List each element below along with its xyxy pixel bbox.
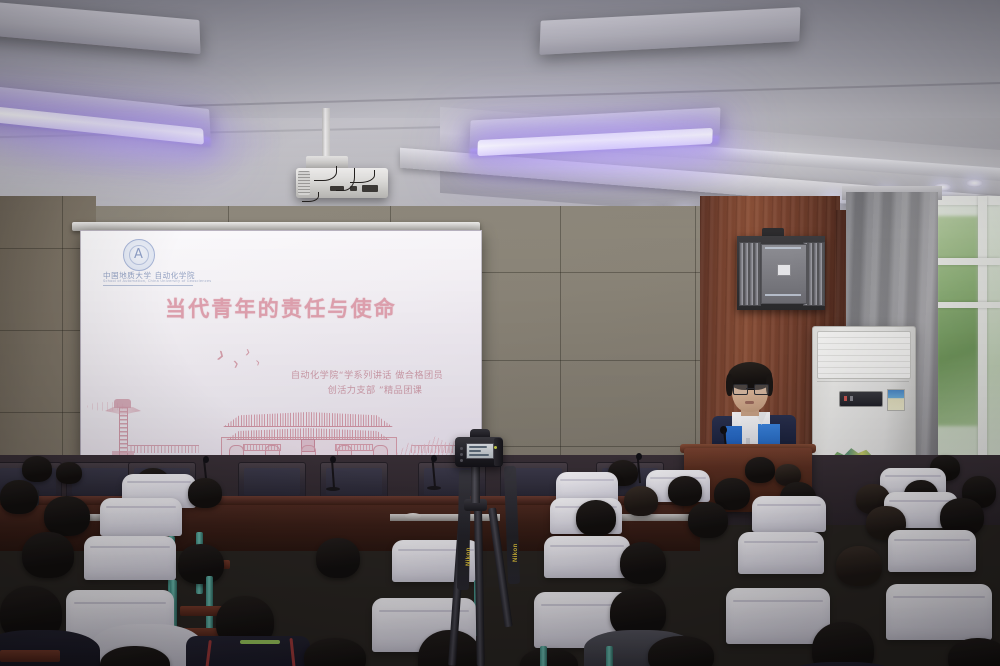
audience-head-c1: [44, 496, 90, 536]
audience-head-e9: [948, 638, 1000, 666]
speaker-strip-top: [765, 247, 801, 249]
audience-head-e6: [648, 636, 714, 666]
chair-cover-d1: [84, 536, 176, 580]
audience-head-e7: [304, 638, 366, 666]
speaker-wing-left: [739, 242, 761, 306]
slide-subtitle-line-1: 自动化学院“学系列讲话 做合格团员: [291, 370, 443, 381]
logo-divider: [103, 285, 193, 286]
university-logo: A 中国地质大学 自动化学院 School of Automation, Chi…: [103, 239, 195, 289]
audience-head-d5: [836, 546, 882, 586]
air-conditioner-seam: [817, 381, 909, 382]
chair-cover-c1: [100, 498, 182, 536]
camera-lcd-row-1: [469, 446, 487, 448]
camera-button-1[interactable]: [460, 447, 463, 450]
lecture-hall-photo: A 中国地质大学 自动化学院 School of Automation, Chi…: [0, 0, 1000, 666]
camera-strap-brand-right: Nikon: [513, 543, 519, 562]
air-conditioner-led: [844, 396, 847, 401]
camera-lcd-row-2: [469, 450, 481, 452]
speaker-mouth: [745, 401, 754, 404]
tripod-center-column[interactable]: [471, 465, 480, 503]
audience-head-d1: [22, 532, 74, 578]
projection-screen: A 中国地质大学 自动化学院 School of Automation, Chi…: [80, 230, 482, 460]
gate-upper-roof: [207, 412, 409, 427]
projector-mount-pole: [322, 108, 330, 160]
wall-mounted-speaker-unit: [737, 236, 825, 310]
audience-head-a1: [22, 456, 52, 482]
glasses-lens-right: [754, 384, 769, 395]
audience-head-b2: [624, 486, 658, 516]
bird-4: ❯: [255, 359, 261, 369]
projector-port-panel: [362, 185, 378, 192]
huabiao-capital: [114, 399, 131, 408]
audience-head-c2: [576, 500, 616, 536]
backpack-green-trim: [240, 640, 280, 644]
audience-head-a2: [56, 462, 82, 484]
speaker-glasses: [733, 384, 767, 393]
window-mullion-horizontal-1: [928, 258, 1000, 265]
camera-strap-left: [457, 470, 471, 590]
glasses-lens-left: [733, 384, 748, 395]
audience-head-d4: [620, 542, 666, 584]
chair-cover-d5: [888, 530, 976, 572]
logo-english-name: School of Automation, China University o…: [103, 279, 195, 283]
speaker-indicator-display: [777, 264, 791, 276]
audience-shoulders-e5: [778, 662, 906, 666]
chair-cover-e5: [886, 584, 992, 640]
window-mullion-horizontal-2: [928, 302, 1000, 308]
audience-head-e10: [520, 648, 578, 666]
camera-strap-brand-left: Nikon: [466, 547, 472, 566]
camera-lcd-screen[interactable]: [466, 443, 494, 459]
audience-head-c0: [0, 480, 38, 514]
chair-cover-d3: [544, 536, 630, 578]
bird-2: ❯: [232, 360, 239, 370]
chair-cover-c3: [752, 496, 826, 532]
speaker-hair-left: [726, 374, 733, 396]
audience-head-b1: [188, 478, 222, 508]
audience-head-d3: [316, 538, 360, 578]
chair-cover-d4: [738, 532, 824, 574]
slide-title: 当代青年的责任与使命: [81, 293, 481, 323]
air-conditioner-louver-grille: [817, 331, 911, 379]
audience-head-c3: [688, 502, 728, 538]
camera-grip: [494, 438, 503, 466]
bird-1: ❯: [216, 350, 226, 361]
audience-head-b3: [668, 476, 702, 506]
audience-head-a5: [745, 457, 775, 483]
audience-head-d2: [178, 544, 224, 584]
glasses-bridge: [746, 388, 754, 389]
chair-frame-leg-e2: [606, 646, 613, 666]
chair-armrest-e1: [0, 650, 60, 662]
camera-lcd-row-3: [469, 454, 489, 456]
logo-emblem-glyph: A: [134, 247, 143, 262]
bird-3: ❯: [244, 349, 251, 359]
air-conditioner-led-2: [850, 396, 853, 401]
camera-status-led: [494, 446, 497, 449]
speaker-strip-bottom: [765, 294, 801, 296]
energy-efficiency-label: [887, 389, 905, 411]
air-conditioner-control-panel[interactable]: [839, 391, 883, 407]
audience-head-e5: [812, 622, 874, 666]
window-foliage-view: [936, 216, 978, 426]
camera-button-3[interactable]: [460, 459, 463, 462]
chair-frame-leg-e1: [540, 646, 547, 666]
camera-button-2[interactable]: [460, 453, 463, 456]
downlight-9: [966, 179, 983, 187]
